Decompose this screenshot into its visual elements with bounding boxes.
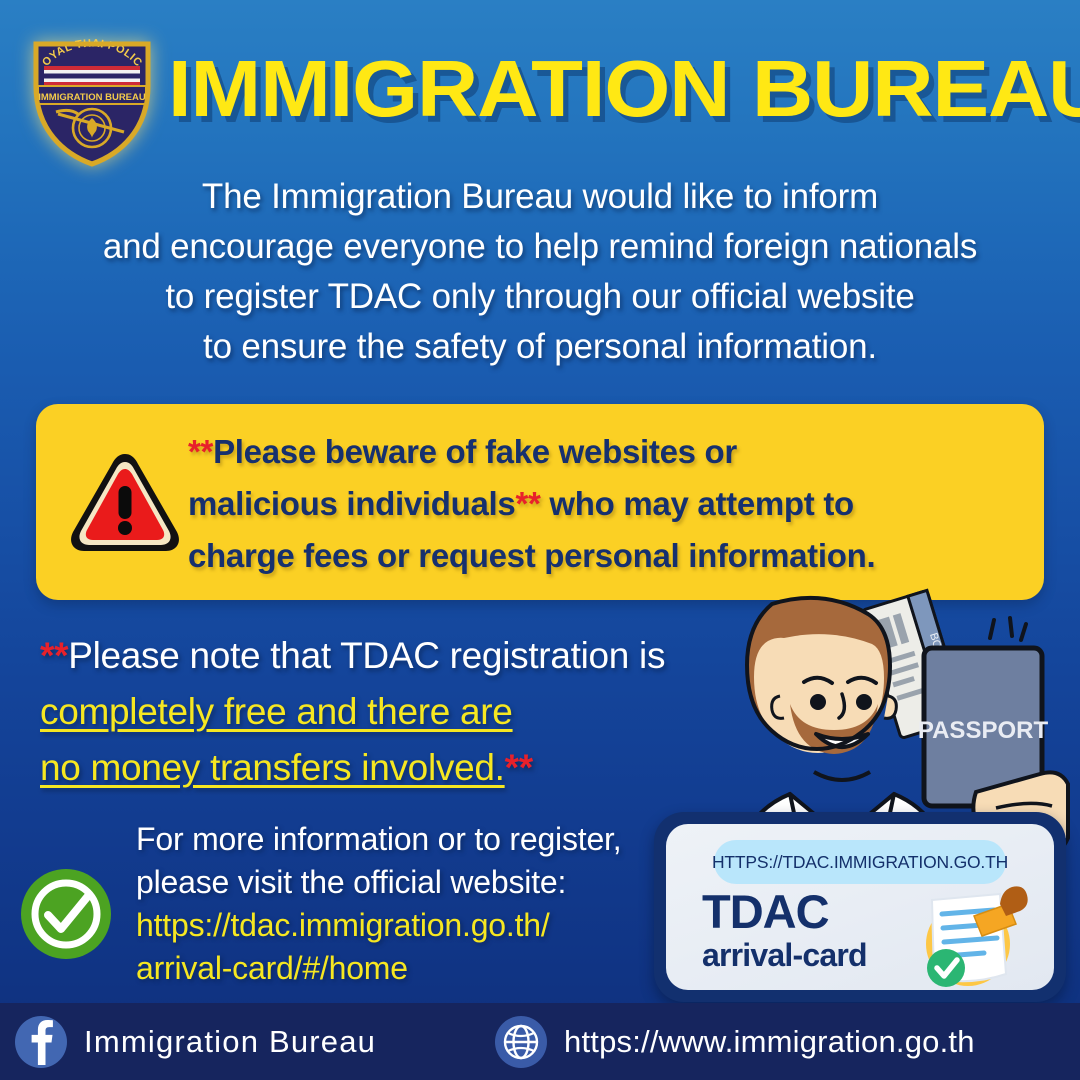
footer-website-item[interactable]: https://www.immigration.go.th xyxy=(494,1015,975,1069)
traveler-head xyxy=(747,598,896,754)
stamped-document-icon xyxy=(908,882,1032,990)
note-highlight-line-2: no money transfers involved. xyxy=(40,747,505,788)
poster-canvas: ROYAL THAI POLICE IMMIGRATION BUREAU IMM… xyxy=(0,0,1080,1080)
intro-line-4: to ensure the safety of personal informa… xyxy=(0,322,1080,372)
facebook-icon[interactable] xyxy=(14,1015,68,1069)
info-line-2: please visit the official website: xyxy=(136,864,566,900)
intro-line-2: and encourage everyone to help remind fo… xyxy=(0,222,1080,272)
warning-asterisk-close: ** xyxy=(515,485,540,522)
tdac-arrival-card[interactable]: HTTPS://TDAC.IMMIGRATION.GO.TH TDAC arri… xyxy=(654,812,1066,1002)
globe-icon[interactable] xyxy=(494,1015,548,1069)
tdac-title: TDAC xyxy=(702,886,829,938)
note-asterisk-open: ** xyxy=(40,635,68,676)
footer-facebook-item[interactable]: Immigration Bureau xyxy=(14,1015,376,1069)
passport-label: PASSPORT xyxy=(918,717,1049,744)
sparkle-icon xyxy=(990,618,1026,640)
page-title: IMMIGRATION BUREAU xyxy=(168,46,1080,132)
tdac-card-inner: HTTPS://TDAC.IMMIGRATION.GO.TH TDAC arri… xyxy=(666,824,1054,990)
official-url-line-2[interactable]: arrival-card/#/home xyxy=(136,950,408,986)
info-line-1: For more information or to register, xyxy=(136,821,621,857)
warning-line-3: charge fees or request personal informat… xyxy=(188,537,875,574)
intro-line-1: The Immigration Bureau would like to inf… xyxy=(0,172,1080,222)
intro-paragraph: The Immigration Bureau would like to inf… xyxy=(0,172,1080,372)
footer-website-label: https://www.immigration.go.th xyxy=(564,1024,975,1060)
warning-triangle-icon xyxy=(64,448,186,558)
green-check-circle-icon xyxy=(18,866,114,962)
tdac-url-pill[interactable]: HTTPS://TDAC.IMMIGRATION.GO.TH xyxy=(714,840,1006,884)
note-asterisk-close: ** xyxy=(505,747,533,788)
header: ROYAL THAI POLICE IMMIGRATION BUREAU IMM… xyxy=(0,0,1080,150)
warning-line-1: Please beware of fake websites or xyxy=(213,433,737,470)
warning-callout-box: **Please beware of fake websites ormalic… xyxy=(36,404,1044,600)
note-lead: Please note that TDAC registration is xyxy=(68,635,665,676)
warning-line-2a: malicious individuals xyxy=(188,485,515,522)
note-highlight-line-1: completely free and there are xyxy=(40,691,513,732)
royal-thai-police-immigration-bureau-badge: ROYAL THAI POLICE IMMIGRATION BUREAU xyxy=(28,28,156,168)
warning-asterisk-open: ** xyxy=(188,433,213,470)
badge-band-text: IMMIGRATION BUREAU xyxy=(38,92,146,103)
warning-line-2b: who may attempt to xyxy=(541,485,854,522)
tdac-subtitle: arrival-card xyxy=(702,936,867,974)
intro-line-3: to register TDAC only through our offici… xyxy=(0,272,1080,322)
footer-bar: Immigration Bureau https://www.immigrati… xyxy=(0,1003,1080,1080)
official-url-line-1[interactable]: https://tdac.immigration.go.th/ xyxy=(136,907,550,943)
info-text: For more information or to register, ple… xyxy=(136,818,676,990)
free-registration-note: **Please note that TDAC registration isc… xyxy=(40,628,740,796)
footer-facebook-label: Immigration Bureau xyxy=(84,1024,376,1060)
warning-text: **Please beware of fake websites ormalic… xyxy=(188,426,1028,582)
